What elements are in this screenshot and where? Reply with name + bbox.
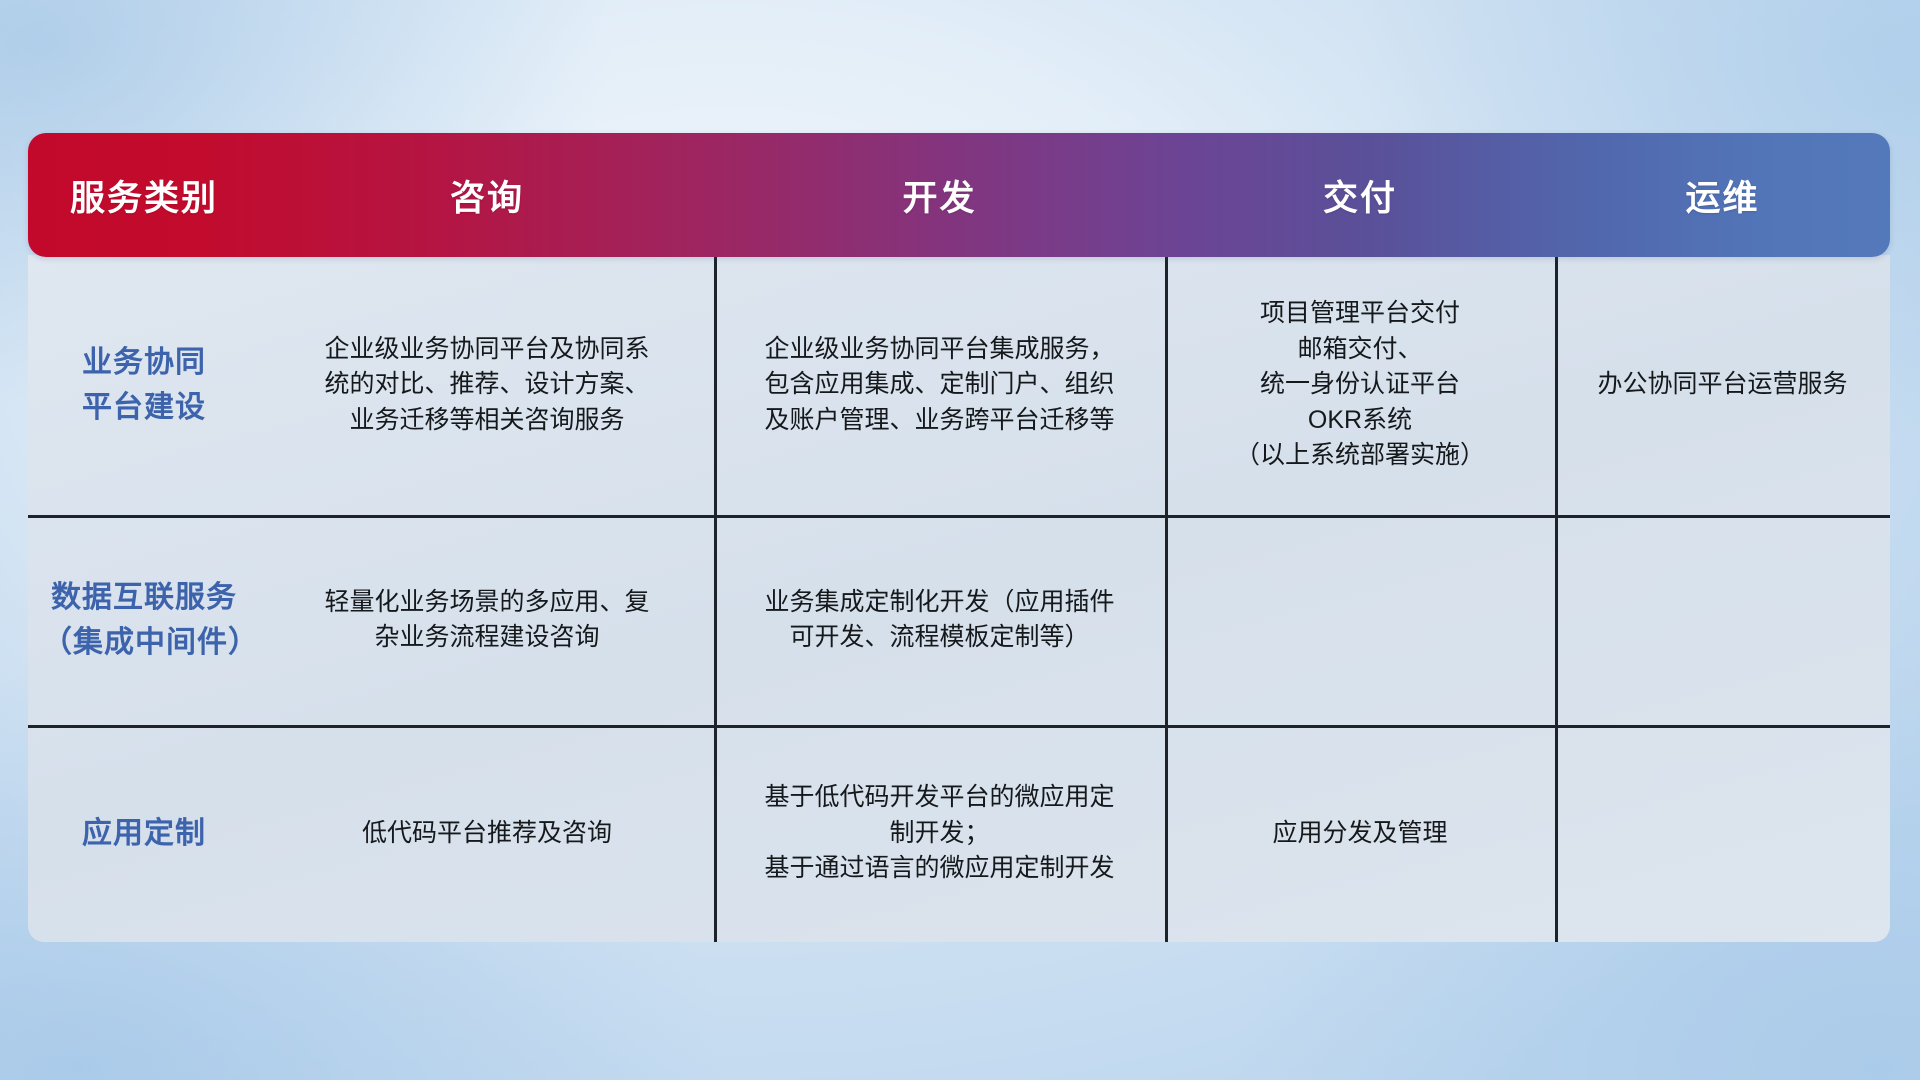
cell-operations [1555,515,1890,725]
cell-operations [1555,725,1890,942]
header-cell-operations: 运维 [1555,133,1890,257]
cell-consulting: 轻量化业务场景的多应用、复 杂业务流程建设咨询 [260,515,714,725]
table-row: 数据互联服务 （集成中间件） 轻量化业务场景的多应用、复 杂业务流程建设咨询 业… [28,515,1890,725]
cell-category: 数据互联服务 （集成中间件） [28,515,260,725]
cell-category: 应用定制 [28,725,260,942]
header-label-development: 开发 [902,170,976,221]
cell-development: 业务集成定制化开发（应用插件 可开发、流程模板定制等） [714,515,1165,725]
table-header-row: 服务类别 咨询 开发 交付 运维 [28,133,1890,257]
table-body: 业务协同 平台建设 企业级业务协同平台及协同系 统的对比、推荐、设计方案、 业务… [28,255,1890,942]
header-label-consulting: 咨询 [450,170,524,221]
header-label-operations: 运维 [1685,170,1759,221]
table-row: 业务协同 平台建设 企业级业务协同平台及协同系 统的对比、推荐、设计方案、 业务… [28,255,1890,515]
service-matrix-table: 服务类别 咨询 开发 交付 运维 业务协同 平台建设 企业级业务协同平台及协同系… [28,133,1890,942]
header-cell-development: 开发 [714,133,1165,257]
cell-development: 基于低代码开发平台的微应用定 制开发； 基于通过语言的微应用定制开发 [714,725,1165,942]
header-label-service-category: 服务类别 [70,170,218,221]
header-cell-consulting: 咨询 [260,133,714,257]
cell-delivery: 项目管理平台交付 邮箱交付、 统一身份认证平台 OKR系统 （以上系统部署实施） [1165,255,1555,515]
header-cell-service-category: 服务类别 [28,133,260,257]
cell-consulting: 企业级业务协同平台及协同系 统的对比、推荐、设计方案、 业务迁移等相关咨询服务 [260,255,714,515]
cell-operations: 办公协同平台运营服务 [1555,255,1890,515]
cell-consulting: 低代码平台推荐及咨询 [260,725,714,942]
table-row: 应用定制 低代码平台推荐及咨询 基于低代码开发平台的微应用定 制开发； 基于通过… [28,725,1890,942]
header-label-delivery: 交付 [1323,170,1397,221]
cell-category: 业务协同 平台建设 [28,255,260,515]
header-cell-delivery: 交付 [1165,133,1555,257]
cell-development: 企业级业务协同平台集成服务， 包含应用集成、定制门户、组织 及账户管理、业务跨平… [714,255,1165,515]
cell-delivery [1165,515,1555,725]
cell-delivery: 应用分发及管理 [1165,725,1555,942]
